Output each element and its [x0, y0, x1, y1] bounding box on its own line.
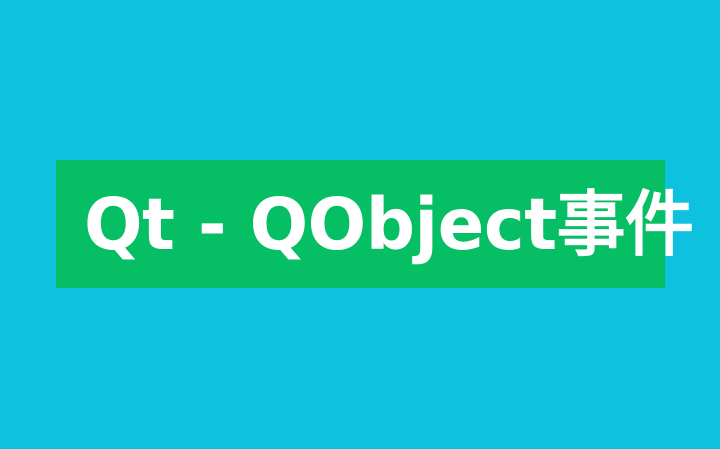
title-banner: Qt - QObject事件 — [56, 160, 665, 288]
title-card: Qt - QObject事件 — [0, 0, 720, 449]
banner-title-text: Qt - QObject事件 — [84, 189, 693, 260]
